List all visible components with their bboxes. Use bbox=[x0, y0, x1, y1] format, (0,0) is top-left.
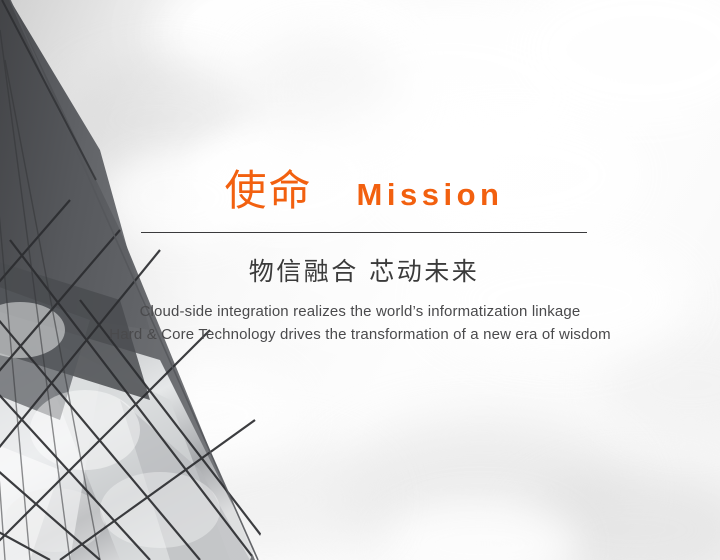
headline-chinese: 使命 bbox=[225, 170, 313, 212]
subtitle-chinese: 物信融合 芯动未来 bbox=[141, 256, 587, 289]
headline-divider bbox=[141, 232, 587, 233]
headline-english: Mission bbox=[357, 179, 504, 210]
headline: 使命 Mission bbox=[141, 170, 587, 212]
banner-content: 使命 Mission 物信融合 芯动未来 Cloud-side integrat… bbox=[0, 0, 720, 560]
tagline-line-2: Hard & Core Technology drives the transf… bbox=[60, 323, 660, 346]
tagline-line-1: Cloud-side integration realizes the worl… bbox=[60, 300, 660, 323]
mission-banner: 使命 Mission 物信融合 芯动未来 Cloud-side integrat… bbox=[0, 0, 720, 560]
tagline-block: Cloud-side integration realizes the worl… bbox=[60, 300, 660, 346]
